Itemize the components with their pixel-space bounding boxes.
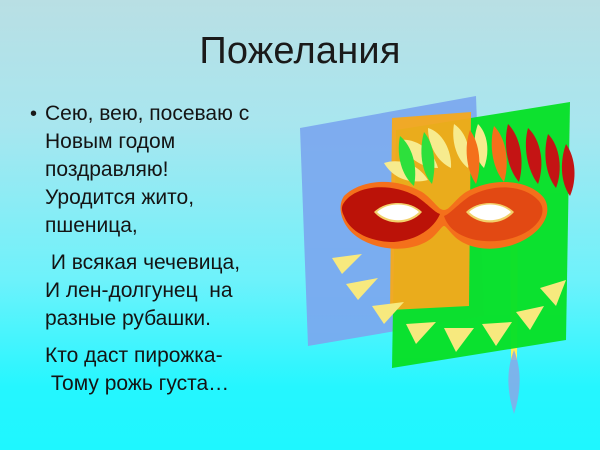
bullet-icon: • <box>26 100 45 128</box>
paragraph-lines: Кто даст пирожка- Тому рожь густа… <box>45 342 301 398</box>
page-title: Пожелания <box>0 28 600 74</box>
text-line: пшеница, <box>45 212 301 240</box>
presentation-slide: Пожелания • Сею, вею, посеваю с Новым го… <box>0 0 600 450</box>
paragraph-3: Кто даст пирожка- Тому рожь густа… <box>26 342 301 398</box>
text-line: Тому рожь густа… <box>45 370 301 398</box>
text-line: Новым годом <box>45 128 301 156</box>
slide-body-text: • Сею, вею, посеваю с Новым годом поздра… <box>26 100 301 398</box>
carnival-mask-illustration <box>288 88 600 418</box>
text-line: Уродится жито, <box>45 184 301 212</box>
text-line: Сею, вею, посеваю с <box>45 100 301 128</box>
paragraph-lines: И всякая чечевица, И лен-долгунец на раз… <box>45 249 301 333</box>
text-line: поздравляю! <box>45 156 301 184</box>
paragraph-2: И всякая чечевица, И лен-долгунец на раз… <box>26 249 301 333</box>
paragraph-lines: Сею, вею, посеваю с Новым годом поздравл… <box>45 100 301 240</box>
text-line: И лен-долгунец на <box>45 277 301 305</box>
bullet-paragraph-1: • Сею, вею, посеваю с Новым годом поздра… <box>26 100 301 240</box>
text-line: И всякая чечевица, <box>45 249 301 277</box>
text-line: Кто даст пирожка- <box>45 342 301 370</box>
text-line: разные рубашки. <box>45 305 301 333</box>
